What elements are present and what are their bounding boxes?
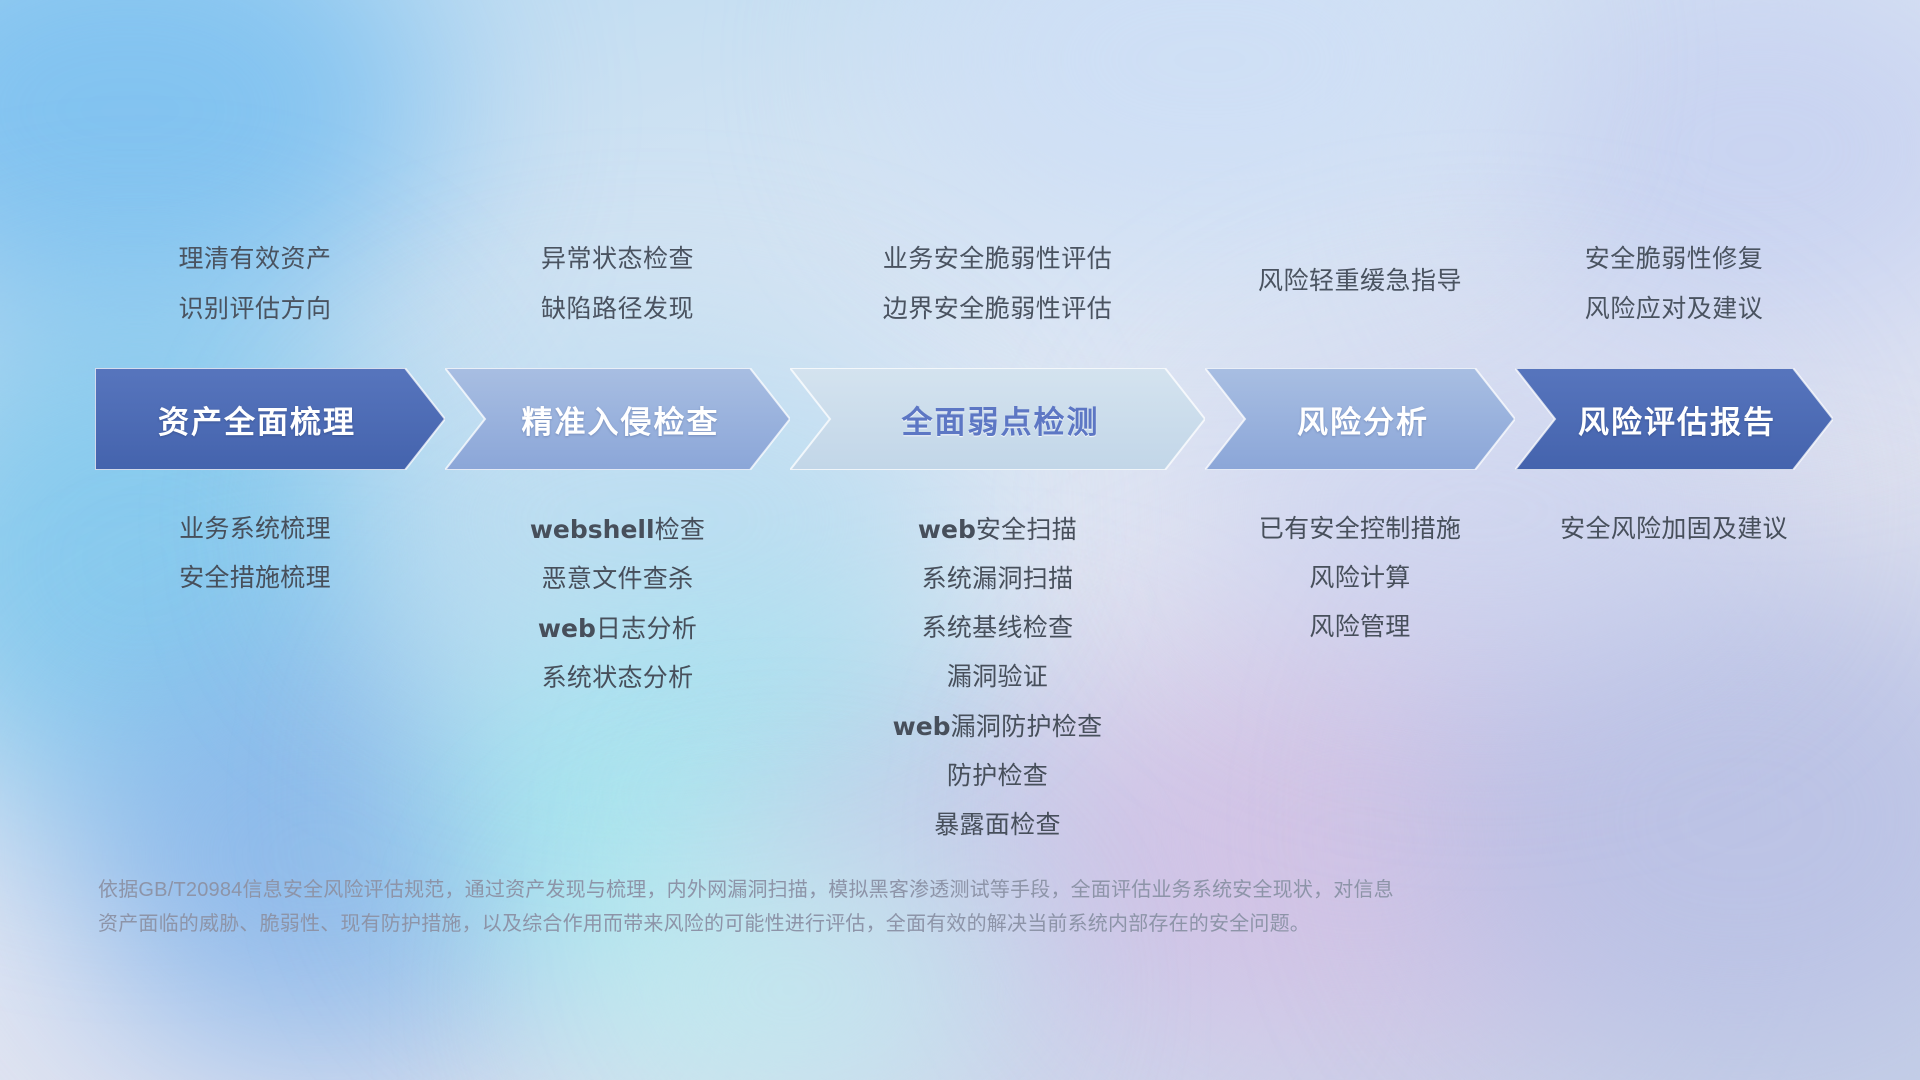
top-caption-line: 安全脆弱性修复 — [1585, 234, 1764, 284]
stage-title: 全面弱点检测 — [902, 397, 1100, 442]
detail-list-item: 安全风险加固及建议 — [1560, 505, 1788, 554]
process-stage-risk-analysis[interactable]: 风险分析 — [1205, 368, 1515, 470]
detail-list-item: 安全措施梳理 — [179, 554, 331, 603]
bg-blob — [1430, 560, 1920, 1080]
bg-blob — [1080, 610, 1640, 1070]
process-stage-risk-report[interactable]: 风险评估报告 — [1515, 368, 1833, 470]
detail-item-keyword: web — [918, 515, 976, 544]
detail-list-item: web安全扫描 — [918, 505, 1077, 555]
top-caption-line: 业务安全脆弱性评估 — [883, 234, 1113, 284]
top-caption-column-risk-analysis: 风险轻重缓急指导 — [1258, 234, 1462, 306]
top-caption-line: 边界安全脆弱性评估 — [883, 284, 1113, 334]
top-caption-line: 风险轻重缓急指导 — [1258, 256, 1462, 306]
detail-list-item: 业务系统梳理 — [179, 505, 331, 554]
detail-list-weakness-detection: web安全扫描系统漏洞扫描系统基线检查漏洞验证web漏洞防护检查防护检查暴露面检… — [893, 505, 1103, 850]
stage-title: 资产全面梳理 — [158, 397, 356, 442]
detail-list-item: 恶意文件查杀 — [542, 555, 694, 604]
top-caption-line: 理清有效资产 — [178, 234, 331, 284]
footnote-line-2: 资产面临的威胁、脆弱性、现有防护措施，以及综合作用而带来风险的可能性进行评估，全… — [98, 907, 1738, 941]
detail-list-risk-report: 安全风险加固及建议 — [1560, 505, 1788, 554]
detail-list-intrusion-check: webshell检查恶意文件查杀web日志分析系统状态分析 — [530, 505, 705, 703]
detail-item-keyword: web — [538, 614, 596, 643]
detail-list-item: 风险管理 — [1309, 603, 1410, 652]
top-caption-line: 风险应对及建议 — [1585, 284, 1764, 334]
top-caption-column-intrusion-check: 异常状态检查缺陷路径发现 — [541, 234, 694, 334]
stage-title: 风险分析 — [1297, 397, 1429, 442]
detail-item-keyword: webshell — [530, 515, 655, 544]
top-captions-row: 理清有效资产识别评估方向异常状态检查缺陷路径发现业务安全脆弱性评估边界安全脆弱性… — [95, 234, 1831, 346]
detail-list-item: 系统状态分析 — [542, 654, 694, 703]
detail-list-item: web漏洞防护检查 — [893, 702, 1103, 752]
detail-list-item: 风险计算 — [1309, 554, 1410, 603]
detail-list-risk-analysis: 已有安全控制措施风险计算风险管理 — [1259, 505, 1461, 652]
detail-list-item: webshell检查 — [530, 505, 705, 555]
process-stage-intrusion-check[interactable]: 精准入侵检查 — [445, 368, 790, 470]
top-caption-line: 缺陷路径发现 — [541, 284, 694, 334]
bg-blob — [60, 640, 580, 1070]
stage-title: 风险评估报告 — [1578, 397, 1776, 442]
detail-list-item: 已有安全控制措施 — [1259, 505, 1461, 554]
process-chevron-band: 资产全面梳理精准入侵检查全面弱点检测风险分析风险评估报告 — [95, 368, 1833, 470]
detail-list-item: web日志分析 — [538, 604, 697, 654]
top-caption-column-weakness-detection: 业务安全脆弱性评估边界安全脆弱性评估 — [883, 234, 1113, 334]
detail-list-item: 漏洞验证 — [947, 653, 1048, 702]
detail-list-asset-inventory: 业务系统梳理安全措施梳理 — [179, 505, 331, 603]
detail-item-keyword: web — [893, 712, 951, 741]
top-caption-column-asset-inventory: 理清有效资产识别评估方向 — [178, 234, 331, 334]
footnote-line-1: 依据GB/T20984信息安全风险评估规范，通过资产发现与梳理，内外网漏洞扫描，… — [98, 873, 1738, 907]
bg-blob — [900, 0, 1520, 260]
process-stage-asset-inventory[interactable]: 资产全面梳理 — [95, 368, 445, 470]
top-caption-line: 识别评估方向 — [178, 284, 331, 334]
top-caption-line: 异常状态检查 — [541, 234, 694, 284]
detail-list-item: 暴露面检查 — [934, 801, 1061, 850]
detail-list-item: 系统基线检查 — [922, 604, 1074, 653]
infographic-canvas: 理清有效资产识别评估方向异常状态检查缺陷路径发现业务安全脆弱性评估边界安全脆弱性… — [0, 0, 1920, 1080]
detail-list-item: 防护检查 — [947, 752, 1048, 801]
footnote-paragraph: 依据GB/T20984信息安全风险评估规范，通过资产发现与梳理，内外网漏洞扫描，… — [98, 873, 1738, 941]
detail-list-item: 系统漏洞扫描 — [922, 555, 1074, 604]
stage-title: 精准入侵检查 — [522, 397, 720, 442]
process-stage-weakness-detection[interactable]: 全面弱点检测 — [790, 368, 1205, 470]
top-caption-column-risk-report: 安全脆弱性修复风险应对及建议 — [1585, 234, 1764, 334]
